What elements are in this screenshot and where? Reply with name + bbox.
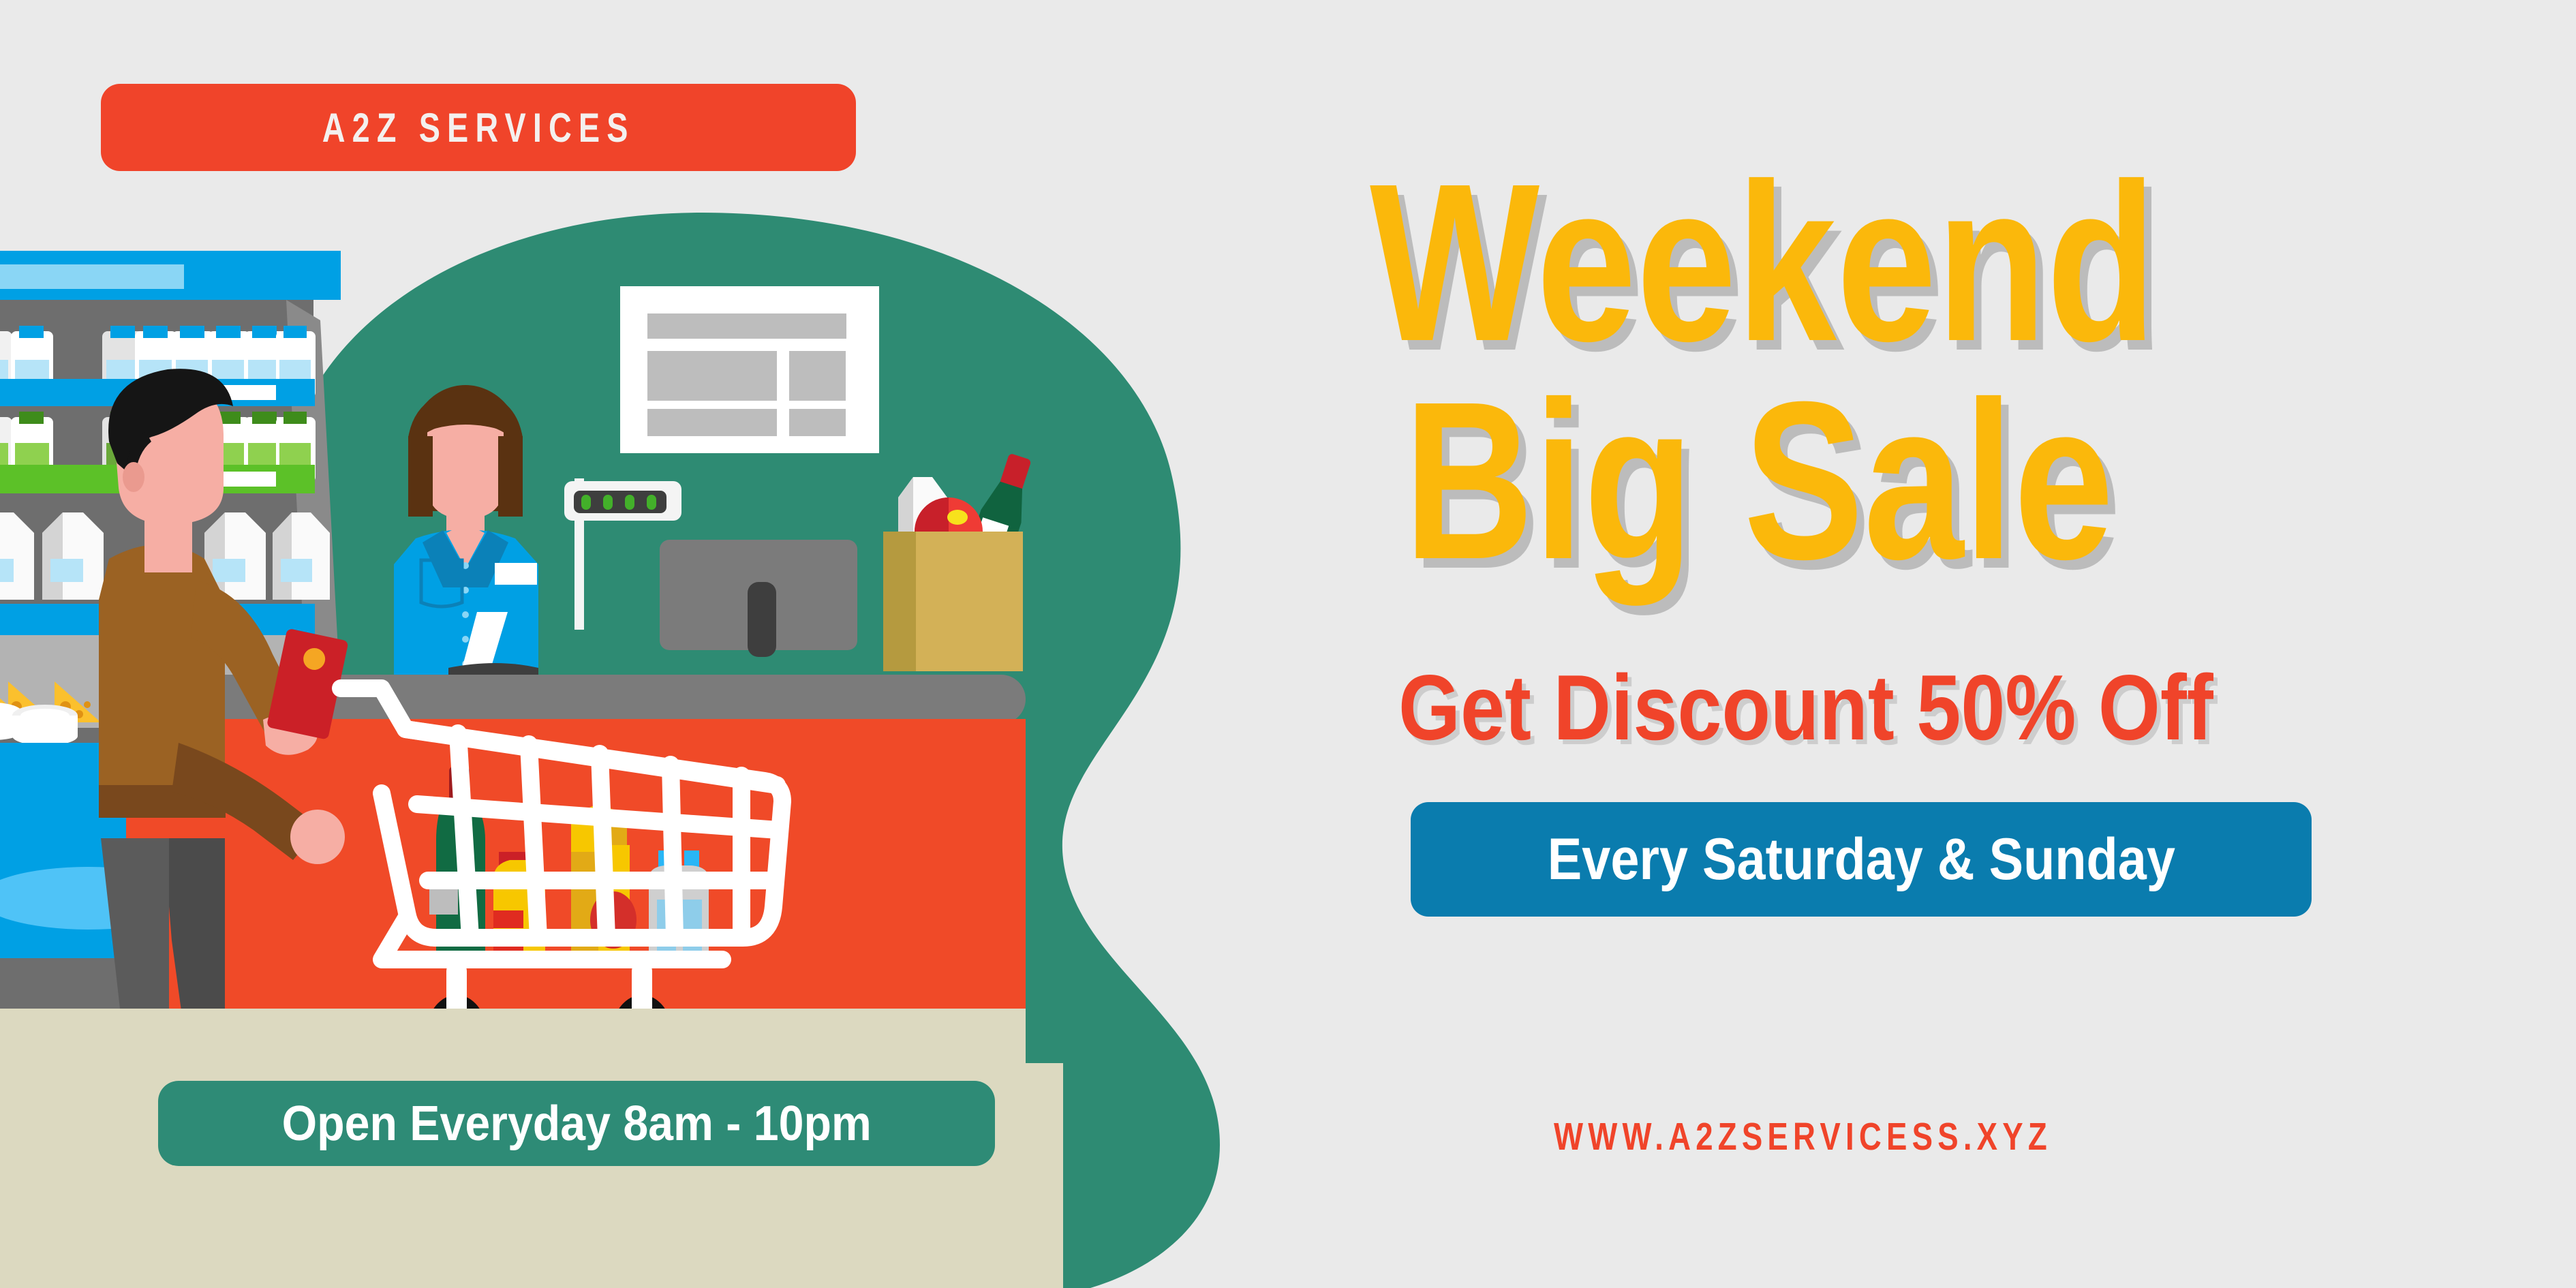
headline-line-1: Weekend [1370,150,2156,375]
brand-badge[interactable]: A2Z SERVICES [101,84,856,171]
price-board [620,286,879,453]
cart-grip-hand [290,810,345,864]
price-board-cell-b [789,351,846,401]
headline-line-2: Big Sale [1404,368,2114,593]
opening-hours-label: Open Everyday 8am - 10pm [281,1096,871,1152]
opening-hours-pill: Open Everyday 8am - 10pm [158,1081,995,1166]
price-board-cell-d [789,409,846,436]
cashier-character [394,385,538,702]
website-url[interactable]: WWW.A2ZSERVICESS.XYZ [1554,1114,2052,1159]
price-board-row-1 [647,313,846,339]
schedule-cta-label: Every Saturday & Sunday [1547,826,2175,893]
brand-badge-label: A2Z SERVICES [322,104,635,151]
pos-monitor [660,540,857,657]
schedule-cta-button[interactable]: Every Saturday & Sunday [1411,802,2312,917]
grocery-bag [883,450,1041,671]
promo-banner: A2Z SERVICES Weekend Big Sale Get Discou… [0,0,2576,1288]
promo-text-panel: Weekend Big Sale Get Discount 50% Off Ev… [1349,0,2576,1288]
name-tag [495,563,537,585]
discount-text: Get Discount 50% Off [1398,654,2213,761]
price-board-cell-a [647,351,777,401]
price-board-cell-c [647,409,777,436]
